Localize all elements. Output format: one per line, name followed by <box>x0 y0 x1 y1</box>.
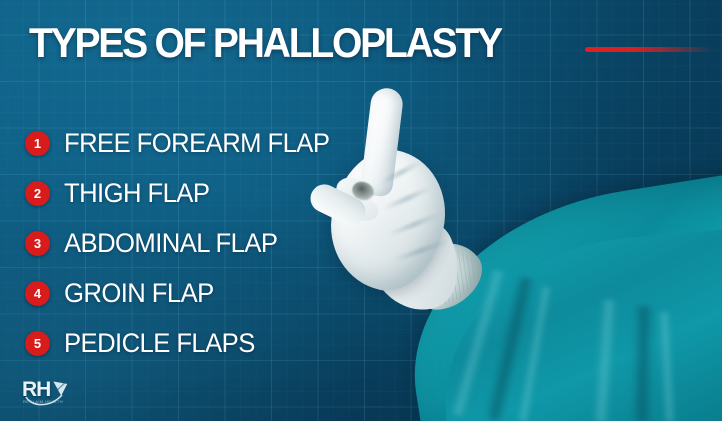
list-item-label: FREE FOREARM FLAP <box>64 129 329 158</box>
types-list: 1 FREE FOREARM FLAP 2 THIGH FLAP 3 ABDOM… <box>25 118 405 368</box>
infographic-canvas: TYPES OF PHALLOPLASTY 1 FREE FOREARM FLA… <box>0 0 722 421</box>
list-number-badge: 1 <box>25 131 50 156</box>
list-item-label: GROIN FLAP <box>64 279 214 308</box>
brand-logo: RH RECLAIM HEALTH <box>22 379 84 409</box>
list-item: 1 FREE FOREARM FLAP <box>25 118 405 168</box>
list-item: 3 ABDOMINAL FLAP <box>25 218 405 268</box>
arrow-swoosh-icon <box>22 379 84 409</box>
list-item-label: THIGH FLAP <box>64 179 209 208</box>
list-number-badge: 3 <box>25 231 50 256</box>
list-item: 5 PEDICLE FLAPS <box>25 318 405 368</box>
list-number-badge: 4 <box>25 281 50 306</box>
list-item: 4 GROIN FLAP <box>25 268 405 318</box>
title-accent-rule <box>585 47 713 52</box>
list-number-badge: 5 <box>25 331 50 356</box>
list-number-badge: 2 <box>25 181 50 206</box>
list-item-label: ABDOMINAL FLAP <box>64 229 277 258</box>
list-item: 2 THIGH FLAP <box>25 168 405 218</box>
list-item-label: PEDICLE FLAPS <box>64 329 255 358</box>
page-title: TYPES OF PHALLOPLASTY <box>29 21 501 65</box>
logo-tagline: RECLAIM HEALTH <box>23 399 63 404</box>
